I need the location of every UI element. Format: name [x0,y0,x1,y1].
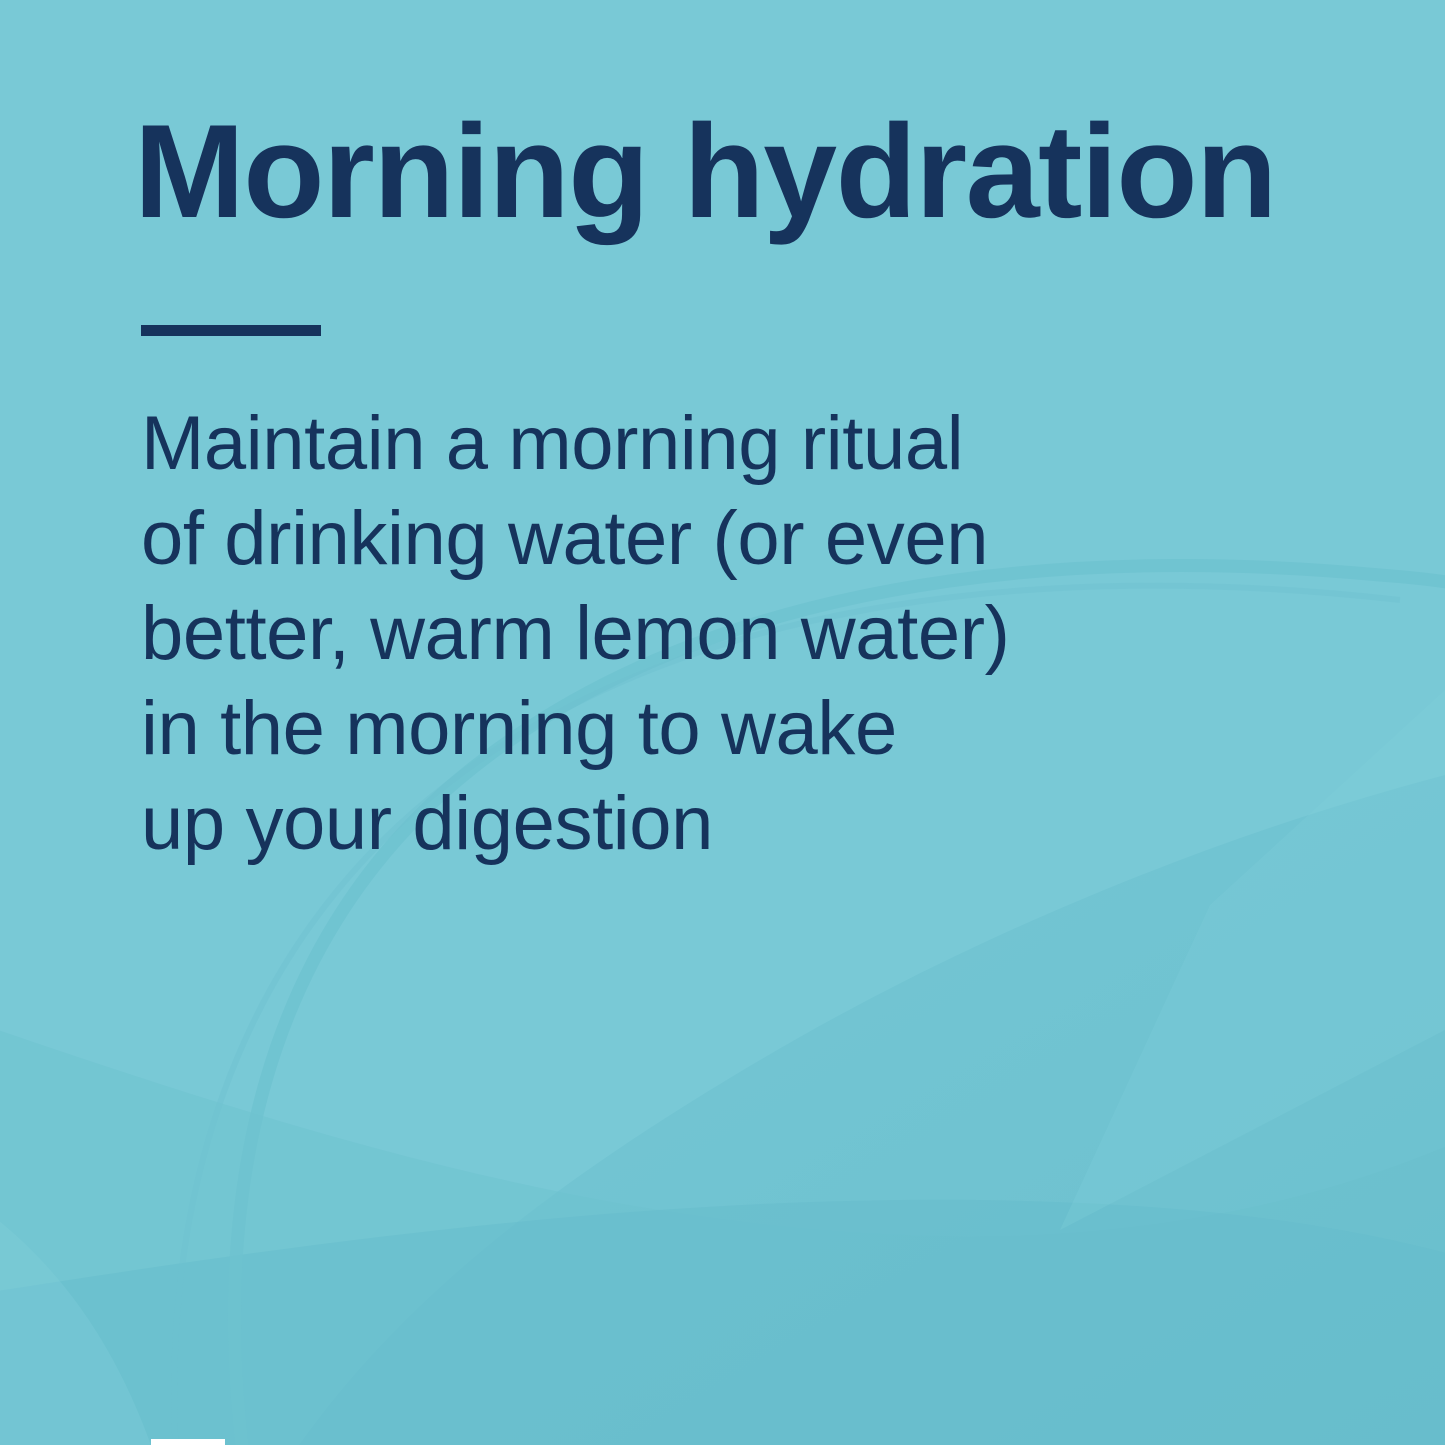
bottom-edge-sliver [151,1439,225,1445]
body-line: of drinking water (or even [141,491,1201,586]
title-underline-rule [141,325,321,336]
page-title: Morning hydration [134,106,1276,239]
hydration-tip-card: Morning hydration Maintain a morning rit… [0,0,1445,1445]
body-line: up your digestion [141,776,1201,871]
body-line: better, warm lemon water) [141,586,1201,681]
body-line: in the morning to wake [141,681,1201,776]
card-content: Morning hydration Maintain a morning rit… [141,0,1301,1445]
body-line: Maintain a morning ritual [141,396,1201,491]
body-paragraph: Maintain a morning ritual of drinking wa… [141,396,1201,871]
